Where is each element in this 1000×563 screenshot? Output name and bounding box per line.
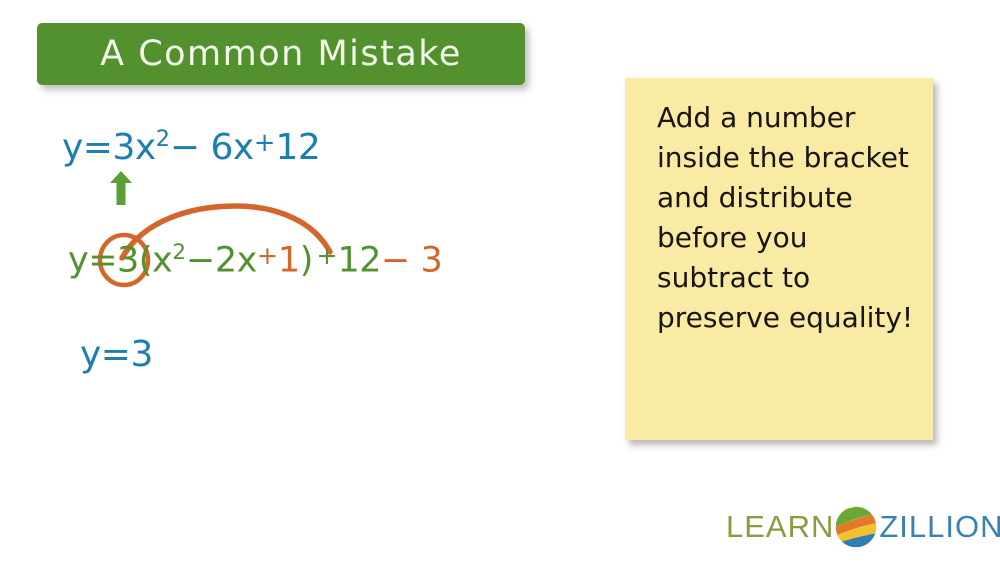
- equation-line-1-exponent: 2: [156, 126, 170, 152]
- equation-line-1-plus: +: [254, 128, 276, 158]
- logo-word-learn: LEARN: [726, 509, 834, 545]
- equation-line-2-exponent: 2: [172, 240, 186, 265]
- equation-line-2: y=3(x2−2x+1)+12− 3: [68, 240, 442, 281]
- logo-word-zillion: ZILLION: [879, 509, 1000, 545]
- equation-line-2-close-paren: ): [300, 241, 317, 281]
- equation-line-2-twelve: 12: [337, 241, 381, 281]
- equation-line-2-accent-minus: − 3: [381, 241, 442, 281]
- sticky-note-text: Add a number inside the bracket and dist…: [657, 98, 919, 338]
- equation-line-2-plus: +: [316, 241, 337, 270]
- equation-line-2-accent-plus: +: [257, 241, 278, 270]
- equation-line-1-mid: − 6x: [170, 127, 254, 168]
- equation-line-3: y=3: [80, 334, 153, 375]
- equation-line-1-tail: 12: [275, 127, 320, 168]
- globe-icon: [834, 505, 878, 549]
- equation-line-2-accent-one: 1: [278, 241, 300, 281]
- equation-line-1: y=3x2− 6x+12: [62, 126, 320, 168]
- learnzillion-logo: LEARN ZILLION: [726, 505, 1000, 549]
- equation-line-1-lead: y=3x: [62, 127, 156, 168]
- sticky-note: Add a number inside the bracket and dist…: [625, 78, 933, 440]
- equation-line-2-mid: −2x: [186, 241, 257, 281]
- equation-line-2-lead: y=3(x: [68, 241, 172, 281]
- equation-area: y=3x2− 6x+12 y=3(x2−2x+1)+12− 3 y=3: [0, 0, 560, 430]
